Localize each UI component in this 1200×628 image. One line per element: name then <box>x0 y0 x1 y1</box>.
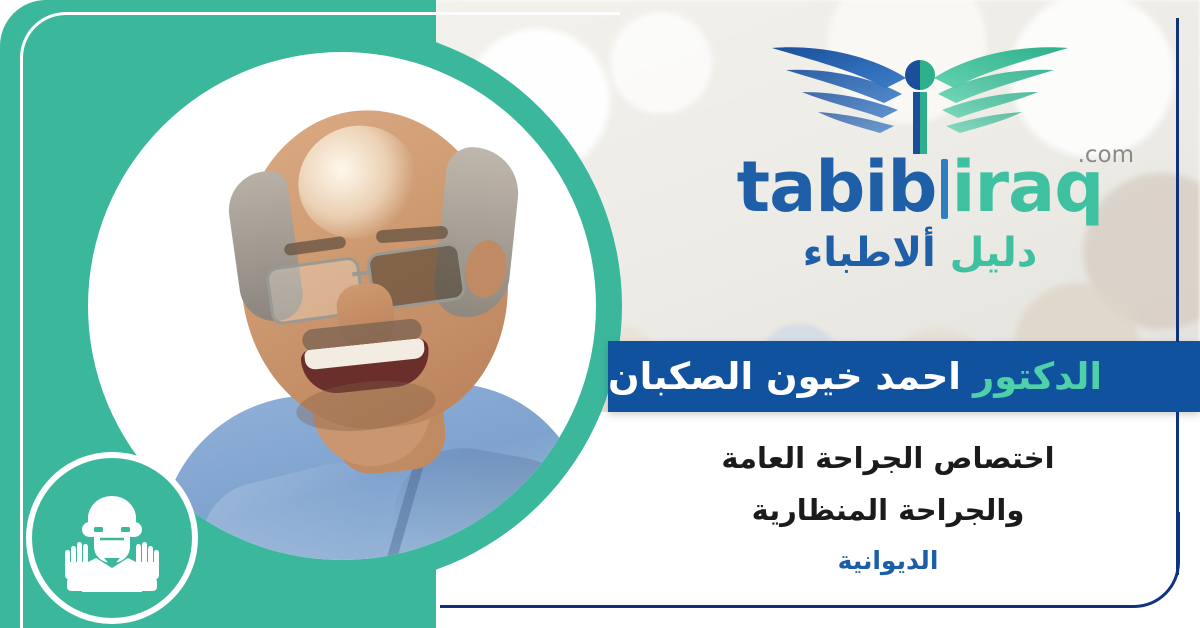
doctor-details: اختصاص الجراحة العامة والجراحة المنظارية… <box>600 432 1176 575</box>
surgeon-badge <box>26 452 198 624</box>
specialty-line-1: اختصاص الجراحة العامة <box>600 432 1176 484</box>
tagline-blue: ألاطباء <box>803 230 936 276</box>
winged-caduceus-icon <box>760 34 1080 154</box>
doctor-name-banner: الدكتور احمد خيون الصكبان <box>608 341 1200 412</box>
tagline-green: دليل <box>950 230 1038 276</box>
wordmark: tabibiraq .com <box>700 148 1140 226</box>
frame-line-bottom <box>440 605 1130 608</box>
doctor-city: الديوانية <box>600 546 1176 575</box>
specialty-line-2: والجراحة المنظارية <box>600 484 1176 536</box>
frame-line-right-top <box>1176 18 1179 342</box>
doctor-name: احمد خيون الصكبان <box>608 355 961 398</box>
wordmark-tld: .com <box>1078 142 1134 168</box>
brand-logo: tabibiraq .com دليل ألاطباء <box>700 34 1140 284</box>
surgeon-icon <box>58 484 166 592</box>
doctor-profile-card: tabibiraq .com دليل ألاطباء الدكتور احمد… <box>0 0 1200 628</box>
wordmark-divider <box>941 159 948 219</box>
brand-tagline: دليل ألاطباء <box>700 230 1140 276</box>
wordmark-tabib: tabib <box>737 146 937 228</box>
doctor-title: الدكتور <box>973 355 1102 398</box>
